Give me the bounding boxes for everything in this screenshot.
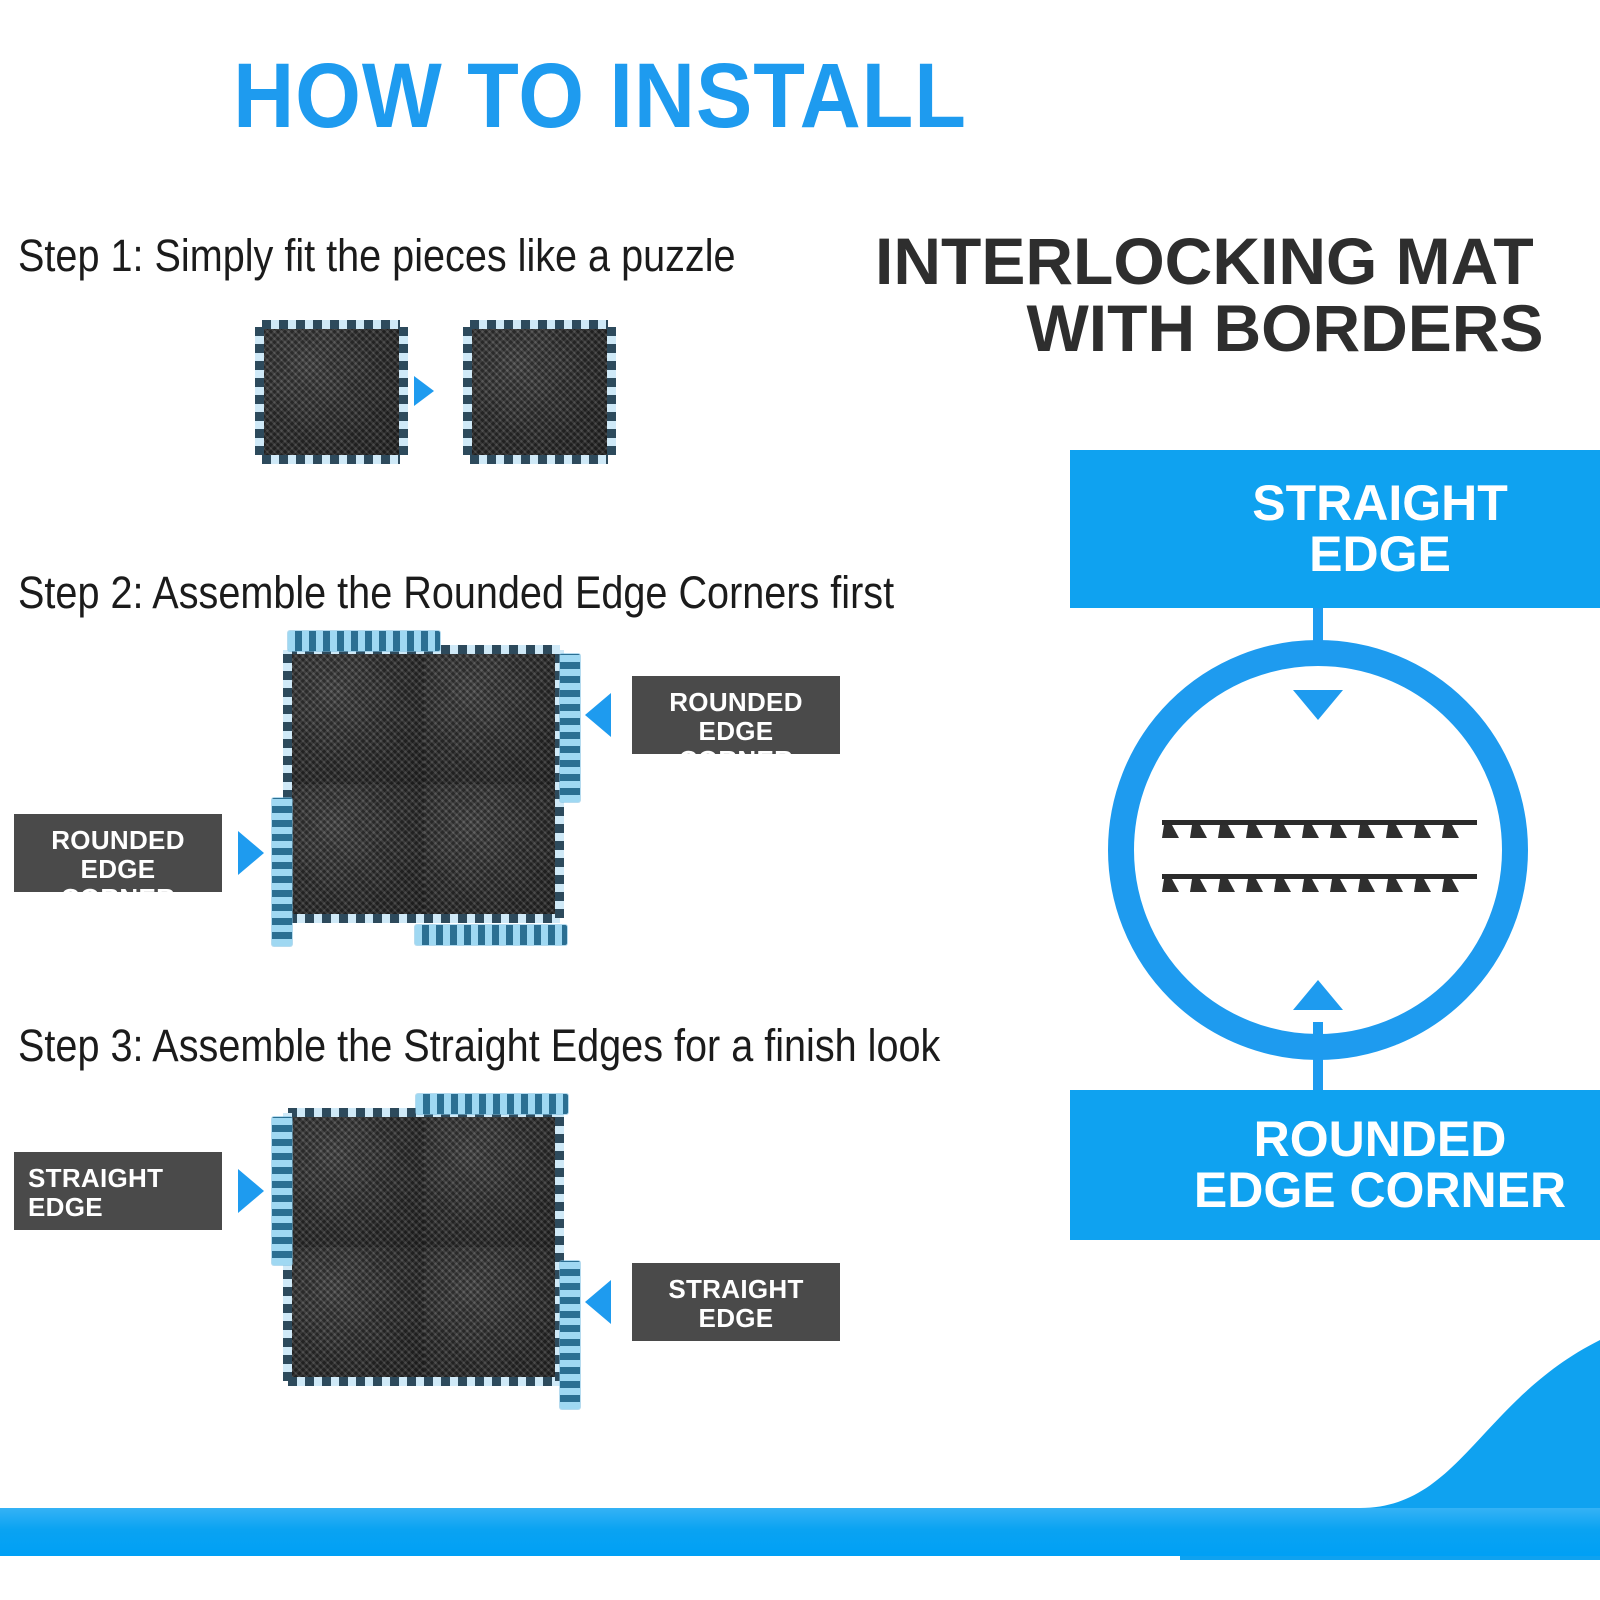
callout-line-2: EDGE [28, 1192, 103, 1222]
page-title: HOW TO INSTALL [48, 44, 1152, 149]
label-line-1: ROUNDED [1254, 1111, 1507, 1167]
callout-rounded-edge-corner-right: ROUNDED EDGE CORNER [632, 676, 840, 754]
infographic-page: HOW TO INSTALL Step 1: Simply fit the pi… [0, 0, 1600, 1600]
rounded-edge-border-top [288, 631, 440, 651]
rounded-edge-border-bottom [415, 925, 567, 945]
rounded-edge-border-right [560, 654, 580, 802]
callout-line-1: ROUNDED [669, 687, 803, 717]
callout-line-2: EDGE [699, 1303, 774, 1333]
product-heading-line-1: INTERLOCKING MAT [875, 228, 1600, 295]
edge-profile-bottom [1162, 872, 1477, 898]
step2-left-arrow-icon [238, 831, 264, 875]
callout-line-1: STRAIGHT [668, 1274, 803, 1304]
label-line-1: STRAIGHT [1252, 475, 1508, 531]
step-1-heading: Step 1: Simply fit the pieces like a puz… [18, 230, 736, 282]
step3-right-arrow-icon [585, 1280, 611, 1324]
rounded-edge-border-left [272, 798, 292, 946]
straight-edge-border-left [272, 1117, 292, 1265]
label-line-2: EDGE CORNER [1194, 1162, 1566, 1218]
callout-rounded-edge-corner-left: ROUNDED EDGE CORNER [14, 814, 222, 892]
label-box-straight-edge: STRAIGHT EDGE [1070, 450, 1600, 608]
callout-straight-edge-left: STRAIGHT EDGE [14, 1152, 222, 1230]
straight-edge-border-right [560, 1261, 580, 1409]
label-line-2: EDGE [1309, 526, 1451, 582]
step1-arrow-icon [414, 376, 434, 406]
callout-line-1: STRAIGHT [28, 1163, 163, 1193]
callout-line-2: EDGE CORNER [61, 854, 175, 913]
callout-line-1: ROUNDED [51, 825, 185, 855]
product-heading-line-2: WITH BORDERS [875, 295, 1600, 362]
step-3-heading: Step 3: Assemble the Straight Edges for … [18, 1020, 940, 1072]
edge-profile-top [1162, 818, 1477, 844]
straight-edge-border-top [416, 1094, 568, 1114]
callout-straight-edge-right: STRAIGHT EDGE [632, 1263, 840, 1341]
connector-line-bottom [1313, 1022, 1323, 1092]
callout-line-2: EDGE CORNER [679, 716, 793, 775]
bottom-blue-band [0, 1508, 1600, 1556]
label-box-rounded-edge-corner: ROUNDED EDGE CORNER [1070, 1090, 1600, 1240]
arrow-up-icon [1293, 980, 1343, 1010]
step-2-heading: Step 2: Assemble the Rounded Edge Corner… [18, 567, 894, 619]
step3-left-arrow-icon [238, 1169, 264, 1213]
arrow-down-icon [1293, 690, 1343, 720]
product-heading: INTERLOCKING MAT WITH BORDERS [875, 228, 1600, 363]
step2-right-arrow-icon [585, 693, 611, 737]
